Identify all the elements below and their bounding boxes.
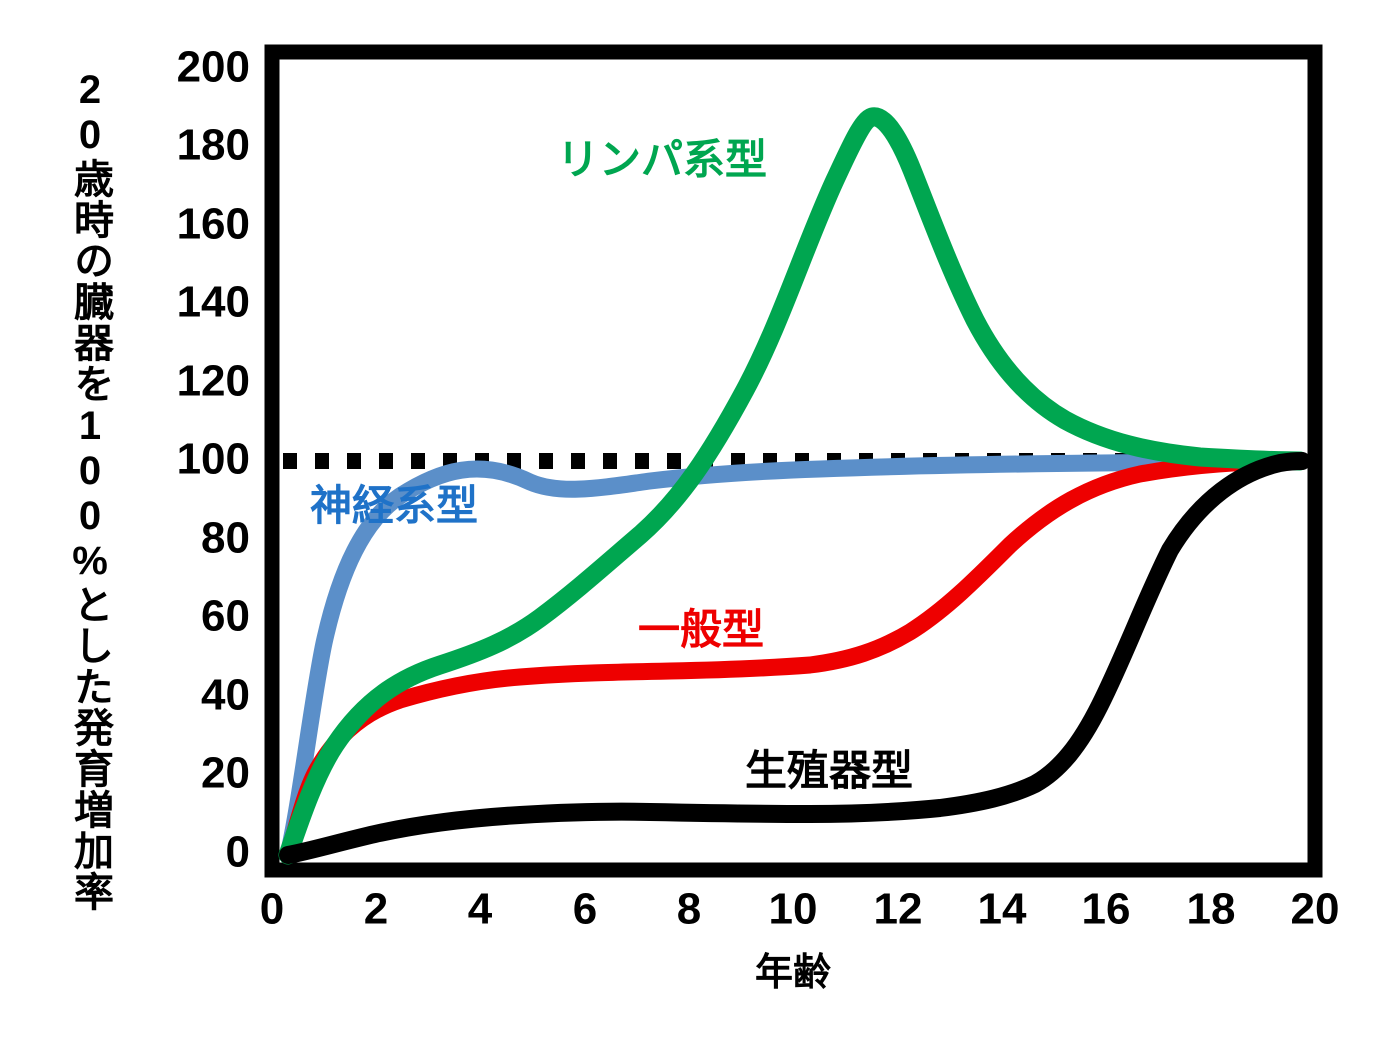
y-tick-100: 100 bbox=[177, 435, 250, 484]
x-tick-8: 8 bbox=[677, 885, 701, 934]
x-tick-16: 16 bbox=[1082, 885, 1131, 934]
x-tick-20: 20 bbox=[1291, 885, 1340, 934]
y-tick-60: 60 bbox=[201, 592, 250, 641]
y-tick-160: 160 bbox=[177, 200, 250, 249]
scammon-growth-chart: 20歳時の臓器を100%とした発育増加率 200 180 160 140 120… bbox=[0, 0, 1400, 1052]
y-tick-20: 20 bbox=[201, 749, 250, 798]
y-tick-200: 200 bbox=[177, 43, 250, 92]
x-axis-tick-labels: 0 2 4 6 8 10 12 14 16 18 20 bbox=[260, 885, 1340, 934]
x-tick-14: 14 bbox=[978, 885, 1027, 934]
chart-canvas: 200 180 160 140 120 100 80 60 40 20 0 0 … bbox=[0, 0, 1400, 1052]
x-tick-18: 18 bbox=[1187, 885, 1236, 934]
x-tick-2: 2 bbox=[364, 885, 388, 934]
x-axis-title: 年齢 bbox=[755, 952, 831, 994]
x-tick-12: 12 bbox=[874, 885, 923, 934]
lymphatic-label: リンパ系型 bbox=[557, 136, 767, 183]
general-label: 一般型 bbox=[638, 606, 764, 653]
x-tick-10: 10 bbox=[769, 885, 818, 934]
x-tick-6: 6 bbox=[573, 885, 597, 934]
y-axis-tick-labels: 200 180 160 140 120 100 80 60 40 20 0 bbox=[177, 43, 250, 877]
y-tick-40: 40 bbox=[201, 671, 250, 720]
genital-label: 生殖器型 bbox=[745, 747, 913, 794]
y-tick-80: 80 bbox=[201, 514, 250, 563]
neural-label: 神経系型 bbox=[310, 482, 478, 529]
y-tick-140: 140 bbox=[177, 278, 250, 327]
y-tick-0: 0 bbox=[226, 828, 250, 877]
x-tick-0: 0 bbox=[260, 885, 284, 934]
x-tick-4: 4 bbox=[468, 885, 493, 934]
y-tick-180: 180 bbox=[177, 121, 250, 170]
y-tick-120: 120 bbox=[177, 357, 250, 406]
